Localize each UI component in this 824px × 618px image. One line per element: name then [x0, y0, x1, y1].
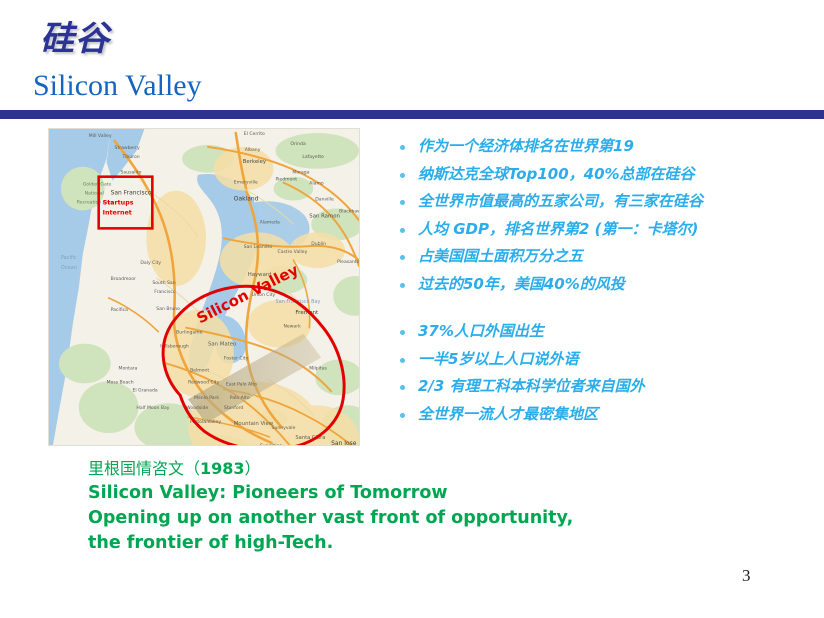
svg-text:Tiburon: Tiburon: [122, 154, 140, 160]
svg-text:Danville: Danville: [315, 197, 334, 203]
svg-text:San Ramon: San Ramon: [309, 213, 340, 219]
svg-text:National: National: [85, 191, 104, 197]
svg-text:Moss Beach: Moss Beach: [107, 379, 134, 385]
quote-source: 里根国情咨文（1983）: [88, 457, 748, 481]
quote-source-suffix: ）: [245, 459, 261, 478]
list-item: 全世界一流人才最密集地区: [396, 402, 816, 428]
page-title-en: Silicon Valley: [33, 70, 202, 102]
quote-source-prefix: 里根国情咨文（: [88, 459, 200, 478]
page-title-cn: 硅谷: [40, 22, 110, 58]
svg-text:Ocean: Ocean: [61, 265, 77, 271]
svg-text:Belmont: Belmont: [190, 367, 209, 373]
svg-text:Foster City: Foster City: [224, 356, 249, 362]
svg-text:South San: South San: [152, 280, 175, 286]
svg-text:San Mateo: San Mateo: [208, 342, 236, 348]
svg-text:Alameda: Alameda: [260, 219, 280, 225]
svg-text:Pacific: Pacific: [61, 255, 77, 261]
list-item: 一半5岁以上人口说外语: [396, 347, 816, 373]
list-item: 2/3 有理工科本科学位者来自国外: [396, 374, 816, 400]
svg-text:East Palo Alto: East Palo Alto: [226, 381, 257, 387]
svg-text:Dublin: Dublin: [311, 241, 326, 247]
map-image: Mill Valley El Cerrito Strawberry Tiburo…: [49, 129, 359, 445]
svg-text:Cupertino: Cupertino: [260, 443, 283, 445]
map-label-san-francisco: San Francisco: [111, 190, 152, 197]
map-annotation-box-label-2: Internet: [103, 209, 132, 216]
svg-text:Castro Valley: Castro Valley: [278, 249, 308, 255]
bay-area-map-figure: Mill Valley El Cerrito Strawberry Tiburo…: [48, 128, 360, 446]
svg-text:Daly City: Daly City: [140, 260, 161, 266]
svg-text:Milpitas: Milpitas: [309, 365, 327, 371]
svg-text:San Jose: San Jose: [331, 440, 357, 445]
svg-text:Francisco: Francisco: [154, 289, 176, 295]
svg-text:Blackhawk: Blackhawk: [339, 208, 359, 214]
svg-text:Mountain View: Mountain View: [234, 421, 274, 427]
map-annotation-box-label-1: Startups: [103, 200, 134, 207]
svg-text:Alamo: Alamo: [309, 181, 324, 187]
list-item: 占美国国土面积万分之五: [396, 244, 816, 270]
quote-source-year: 1983: [200, 459, 245, 478]
svg-text:San Bruno: San Bruno: [156, 306, 180, 312]
svg-text:El Cerrito: El Cerrito: [244, 131, 265, 137]
quote-line-2: Opening up on another vast front of oppo…: [88, 506, 748, 531]
svg-text:Emeryville: Emeryville: [234, 180, 258, 186]
list-item: 全世界市值最高的五家公司，有三家在硅谷: [396, 189, 816, 215]
svg-text:Newark: Newark: [283, 324, 301, 330]
facts-group-demographics: 37%人口外国出生 一半5岁以上人口说外语 2/3 有理工科本科学位者来自国外 …: [396, 319, 816, 427]
svg-text:Pleasanton: Pleasanton: [337, 259, 359, 265]
facts-column: 作为一个经济体排名在世界第19 纳斯达克全球Top100，40%总部在硅谷 全世…: [396, 134, 816, 429]
quote-line-3: the frontier of high-Tech.: [88, 531, 748, 556]
svg-text:Piedmont: Piedmont: [276, 177, 298, 183]
list-item: 37%人口外国出生: [396, 319, 816, 345]
svg-text:Menlo Park: Menlo Park: [194, 395, 219, 401]
svg-text:Strawberry: Strawberry: [115, 145, 140, 151]
facts-group-economy: 作为一个经济体排名在世界第19 纳斯达克全球Top100，40%总部在硅谷 全世…: [396, 134, 816, 297]
svg-text:Burlingame: Burlingame: [176, 330, 202, 336]
svg-text:Half Moon Bay: Half Moon Bay: [136, 405, 169, 411]
quote-block: 里根国情咨文（1983） Silicon Valley: Pioneers of…: [88, 457, 748, 556]
svg-text:Orinda: Orinda: [290, 141, 306, 147]
svg-text:Palo Alto: Palo Alto: [230, 395, 250, 401]
svg-text:Broadmoor: Broadmoor: [111, 276, 136, 282]
svg-text:Berkeley: Berkeley: [243, 159, 267, 165]
svg-text:Golden Gate: Golden Gate: [83, 182, 112, 188]
svg-text:Mill Valley: Mill Valley: [89, 133, 112, 139]
svg-text:Oakland: Oakland: [234, 196, 259, 203]
svg-text:Moraga: Moraga: [292, 170, 309, 176]
list-item: 纳斯达克全球Top100，40%总部在硅谷: [396, 162, 816, 188]
svg-text:El Granada: El Granada: [132, 387, 157, 393]
list-item: 过去的50年，美国40%的风投: [396, 272, 816, 298]
svg-text:Pacifica: Pacifica: [111, 307, 129, 313]
svg-text:San Leandro: San Leandro: [244, 244, 273, 250]
list-item: 作为一个经济体排名在世界第19: [396, 134, 816, 160]
page-number: 3: [742, 566, 751, 586]
svg-text:Stanford: Stanford: [224, 405, 244, 411]
svg-text:Woodside: Woodside: [186, 405, 208, 411]
list-item: 人均 GDP，排名世界第2 (第一：卡塔尔): [396, 217, 816, 243]
svg-text:Redwood City: Redwood City: [188, 379, 220, 385]
svg-text:Sunnyvale: Sunnyvale: [272, 425, 296, 431]
quote-line-1: Silicon Valley: Pioneers of Tomorrow: [88, 481, 748, 506]
svg-text:Albany: Albany: [245, 147, 261, 153]
svg-text:Sausalito: Sausalito: [121, 170, 142, 176]
title-divider-rule: [0, 110, 824, 119]
svg-text:Lafayette: Lafayette: [302, 154, 324, 160]
svg-text:Montara: Montara: [119, 365, 138, 371]
